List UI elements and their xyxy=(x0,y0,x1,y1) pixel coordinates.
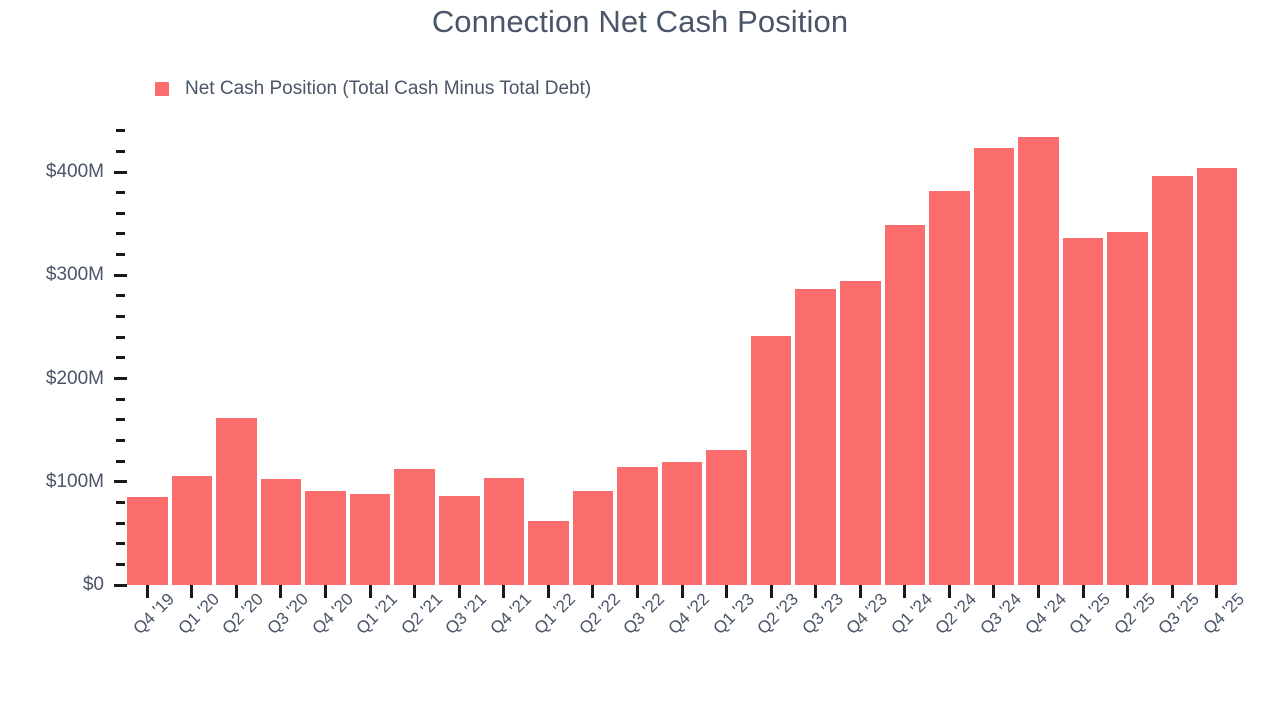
y-axis-tick-mark xyxy=(116,439,125,442)
x-axis-label-cell: Q3 '20 xyxy=(261,599,302,699)
legend-swatch-icon xyxy=(155,82,169,96)
chart-container: Connection Net Cash Position Net Cash Po… xyxy=(0,0,1280,720)
x-axis-label-cell: Q3 '21 xyxy=(439,599,480,699)
x-axis-tick-mark xyxy=(859,585,862,598)
y-axis-tick-mark xyxy=(116,398,125,401)
x-axis-tick-mark xyxy=(1037,585,1040,598)
x-axis-label-cell: Q4 '23 xyxy=(840,599,881,699)
x-axis-label-cell: Q4 '24 xyxy=(1018,599,1059,699)
bar[interactable] xyxy=(350,494,391,585)
x-axis-tick-mark xyxy=(770,585,773,598)
x-axis-label-cell: Q1 '23 xyxy=(706,599,747,699)
x-axis-tick-mark xyxy=(1215,585,1218,598)
x-axis-tick-mark xyxy=(324,585,327,598)
bar[interactable] xyxy=(929,191,970,585)
x-axis-tick-mark xyxy=(1082,585,1085,598)
x-axis-tick-mark xyxy=(681,585,684,598)
bar[interactable] xyxy=(394,469,435,585)
y-axis-tick-mark xyxy=(114,584,127,587)
legend-item-label: Net Cash Position (Total Cash Minus Tota… xyxy=(185,78,591,100)
bar[interactable] xyxy=(1152,176,1193,585)
x-axis-tick-mark xyxy=(458,585,461,598)
bar[interactable] xyxy=(573,491,614,585)
x-axis-tick-mark xyxy=(235,585,238,598)
y-axis-tick-mark xyxy=(116,150,125,153)
y-axis-tick-mark xyxy=(116,212,125,215)
x-axis-tick-mark xyxy=(1171,585,1174,598)
bar[interactable] xyxy=(1197,168,1238,585)
x-axis-label-cell: Q4 '20 xyxy=(305,599,346,699)
x-axis-label-cell: Q4 '22 xyxy=(662,599,703,699)
bar[interactable] xyxy=(840,281,881,585)
x-axis-tick-mark xyxy=(547,585,550,598)
x-axis-tick-mark xyxy=(992,585,995,598)
y-axis-tick-mark xyxy=(116,336,125,339)
x-axis-tick-mark xyxy=(190,585,193,598)
bar[interactable] xyxy=(261,479,302,585)
bar[interactable] xyxy=(216,418,257,585)
x-axis-tick-mark xyxy=(1126,585,1129,598)
bar[interactable] xyxy=(795,289,836,585)
bar[interactable] xyxy=(172,476,213,585)
x-axis-label-cell: Q2 '22 xyxy=(573,599,614,699)
x-axis-label-cell: Q3 '25 xyxy=(1152,599,1193,699)
bar[interactable] xyxy=(1107,232,1148,585)
x-axis-tick-mark xyxy=(369,585,372,598)
x-axis-label-cell: Q2 '23 xyxy=(751,599,792,699)
x-axis-label-cell: Q1 '25 xyxy=(1063,599,1104,699)
bar[interactable] xyxy=(706,450,747,585)
y-axis-tick-mark xyxy=(116,418,125,421)
bar[interactable] xyxy=(127,497,168,585)
chart-legend: Net Cash Position (Total Cash Minus Tota… xyxy=(155,78,591,100)
page-title: Connection Net Cash Position xyxy=(0,4,1280,40)
x-axis-label-cell: Q1 '22 xyxy=(528,599,569,699)
x-axis-tick-mark xyxy=(814,585,817,598)
y-axis-tick-mark xyxy=(116,191,125,194)
legend-item-net-cash-position[interactable]: Net Cash Position (Total Cash Minus Tota… xyxy=(155,78,591,100)
bar[interactable] xyxy=(1018,137,1059,585)
y-axis-tick-mark xyxy=(114,171,127,174)
y-axis: $0$100M$200M$300M$400M xyxy=(0,0,127,720)
x-axis-tick-mark xyxy=(725,585,728,598)
x-axis-label-cell: Q2 '20 xyxy=(216,599,257,699)
plot-area xyxy=(127,122,1237,585)
x-axis-label-cell: Q4 '21 xyxy=(484,599,525,699)
y-axis-tick-mark xyxy=(116,563,125,566)
x-axis-label-cell: Q2 '24 xyxy=(929,599,970,699)
x-axis-labels: Q4 '19Q1 '20Q2 '20Q3 '20Q4 '20Q1 '21Q2 '… xyxy=(127,599,1237,699)
bar[interactable] xyxy=(528,521,569,585)
y-axis-tick-mark xyxy=(116,253,125,256)
bar[interactable] xyxy=(885,225,926,585)
y-axis-tick-mark xyxy=(116,460,125,463)
x-axis-label-cell: Q4 '25 xyxy=(1197,599,1238,699)
x-axis-label-cell: Q4 '19 xyxy=(127,599,168,699)
bar[interactable] xyxy=(662,462,703,585)
x-axis-tick-mark xyxy=(502,585,505,598)
y-axis-tick-mark xyxy=(116,294,125,297)
y-axis-tick-mark xyxy=(116,542,125,545)
bar[interactable] xyxy=(751,336,792,585)
x-axis-label-cell: Q3 '22 xyxy=(617,599,658,699)
x-axis-tick-mark xyxy=(279,585,282,598)
x-axis-tick-mark xyxy=(591,585,594,598)
x-axis-tick-mark xyxy=(948,585,951,598)
x-axis-label-cell: Q1 '21 xyxy=(350,599,391,699)
y-axis-tick-mark xyxy=(116,315,125,318)
y-axis-tick-mark xyxy=(114,480,127,483)
x-axis-label-cell: Q3 '24 xyxy=(974,599,1015,699)
bar[interactable] xyxy=(484,478,525,585)
x-axis-label-cell: Q2 '21 xyxy=(394,599,435,699)
bar[interactable] xyxy=(974,148,1015,585)
y-axis-tick-mark xyxy=(116,129,125,132)
x-axis-tick-mark xyxy=(146,585,149,598)
y-axis-tick-mark xyxy=(116,501,125,504)
bar[interactable] xyxy=(305,491,346,585)
x-axis-tick-mark xyxy=(903,585,906,598)
x-axis-tick-mark xyxy=(413,585,416,598)
x-axis: Q4 '19Q1 '20Q2 '20Q3 '20Q4 '20Q1 '21Q2 '… xyxy=(127,585,1237,720)
y-axis-tick-mark xyxy=(114,377,127,380)
bar[interactable] xyxy=(1063,238,1104,585)
x-axis-label-cell: Q3 '23 xyxy=(795,599,836,699)
y-axis-tick-mark xyxy=(114,274,127,277)
bars-layer xyxy=(127,122,1237,585)
bar[interactable] xyxy=(439,496,480,585)
y-axis-tick-mark xyxy=(116,522,125,525)
x-axis-label-cell: Q1 '20 xyxy=(172,599,213,699)
y-axis-tick-mark xyxy=(116,356,125,359)
bar[interactable] xyxy=(617,467,658,585)
x-axis-tick-mark xyxy=(636,585,639,598)
x-axis-label-cell: Q2 '25 xyxy=(1107,599,1148,699)
y-axis-tick-mark xyxy=(116,232,125,235)
x-axis-label-cell: Q1 '24 xyxy=(885,599,926,699)
